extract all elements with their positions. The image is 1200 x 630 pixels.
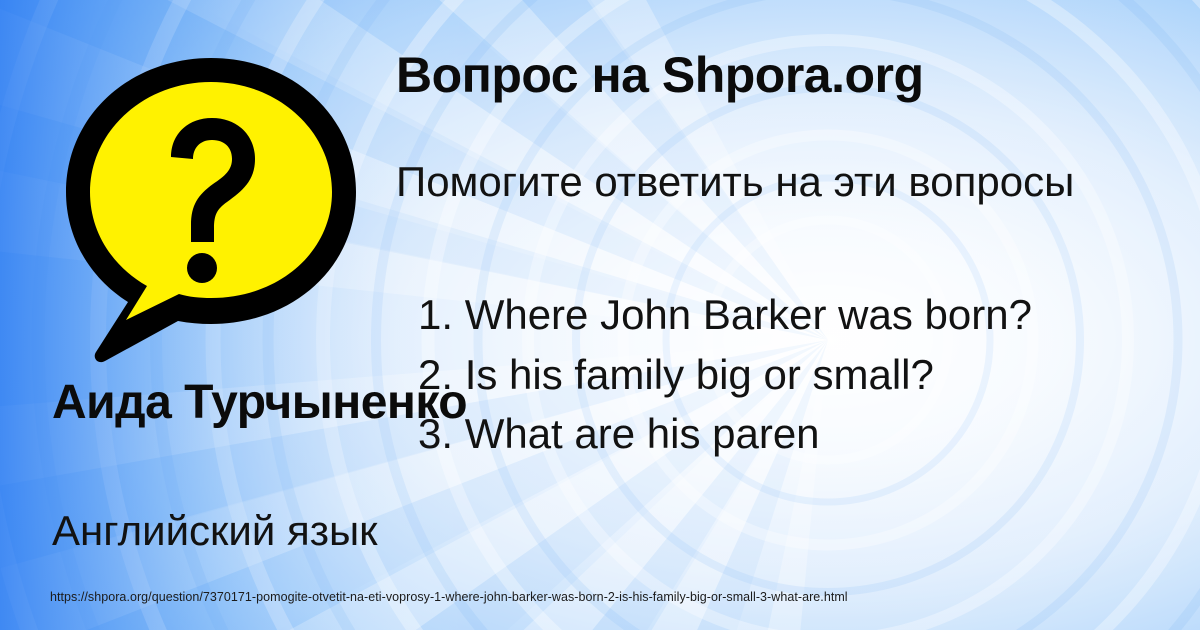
question-body: Помогите ответить на эти вопросы: [396, 152, 1096, 212]
question-speech-bubble-icon: [52, 52, 370, 364]
list-item: 1. Where John Barker was born?: [418, 285, 1200, 345]
list-item: 3. What are his paren: [418, 404, 1200, 464]
source-url[interactable]: https://shpora.org/question/7370171-pomo…: [50, 590, 848, 604]
author-name: Аида Турчыненко: [52, 378, 472, 429]
page-title: Вопрос на Shpora.org: [396, 48, 924, 103]
subject-label: Английский язык: [52, 508, 512, 554]
question-items-list: 1. Where John Barker was born? 2. Is his…: [418, 285, 1200, 464]
list-item: 2. Is his family big or small?: [418, 345, 1200, 405]
share-card: Аида Турчыненко Английский язык Вопрос н…: [0, 0, 1200, 630]
question-mark-dot: [187, 253, 217, 283]
question-speech-bubble: [52, 52, 370, 364]
